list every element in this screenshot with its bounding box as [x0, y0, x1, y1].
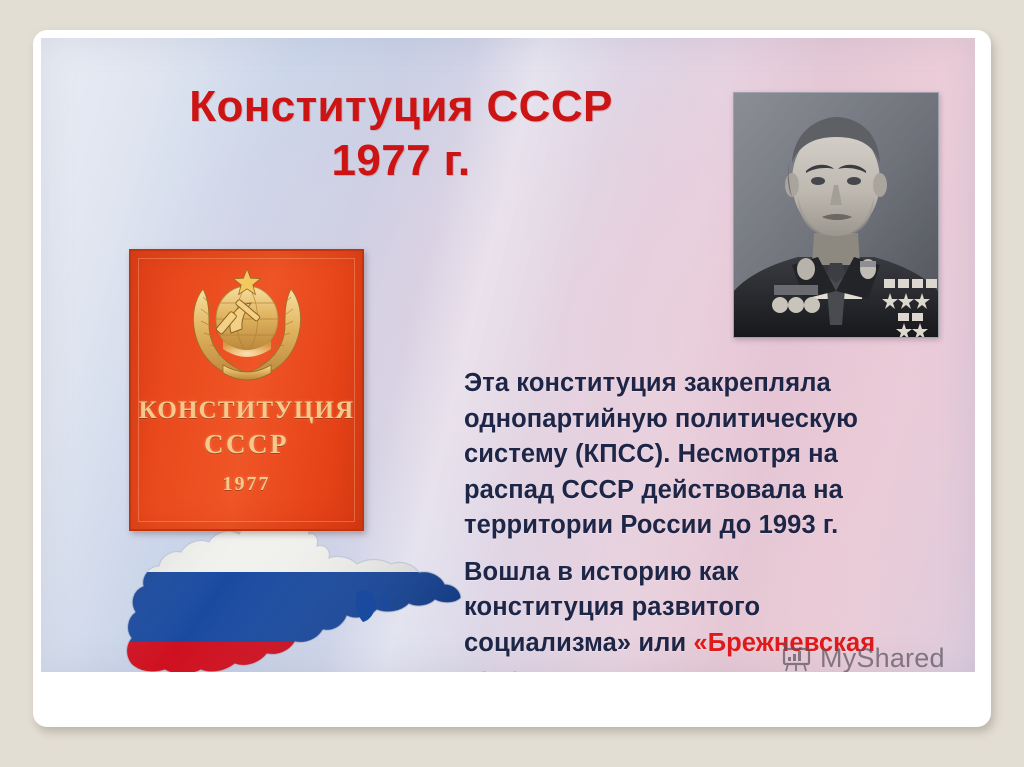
p2-line-1: Вошла в историю как — [464, 555, 964, 591]
myshared-watermark: MyShared — [779, 642, 945, 672]
ussr-coat-of-arms-icon — [179, 267, 315, 387]
slide-body-text: Эта конституция закрепляла однопартийную… — [464, 366, 964, 672]
presentation-board-icon — [779, 642, 813, 672]
screenshot-stage: Конституция СССР 1977 г. — [0, 0, 1024, 767]
portrait-photo — [734, 93, 938, 337]
book-title-line-1: КОНСТИТУЦИЯ — [131, 397, 362, 425]
p2-line-2: конституция развитого — [464, 590, 964, 626]
p1-line-4: распад СССР действовала на — [464, 473, 964, 509]
presentation-slide: Конституция СССР 1977 г. — [41, 38, 975, 672]
brezhnev-portrait — [733, 92, 939, 338]
slide-title: Конституция СССР 1977 г. — [131, 80, 671, 187]
p2-line-3-text: социализма» или — [464, 629, 693, 657]
title-line-1: Конституция СССР — [131, 80, 671, 134]
p1-line-3: систему (КПСС). Несмотря на — [464, 437, 964, 473]
p1-line-2: однопартийную политическую — [464, 402, 964, 438]
myshared-label: MyShared — [820, 643, 945, 673]
p2-period: . — [639, 664, 646, 672]
title-line-2: 1977 г. — [131, 134, 671, 188]
highlight-brezhnev-2: конституция» — [464, 664, 639, 672]
paragraph-1: Эта конституция закрепляла однопартийную… — [464, 366, 964, 544]
p1-line-5: территории России до 1993 г. — [464, 508, 964, 544]
book-title-line-2: СССР — [131, 429, 362, 460]
p1-line-1: Эта конституция закрепляла — [464, 366, 964, 402]
constitution-book-cover: КОНСТИТУЦИЯ СССР 1977 — [129, 249, 364, 531]
book-year: 1977 — [131, 473, 362, 496]
